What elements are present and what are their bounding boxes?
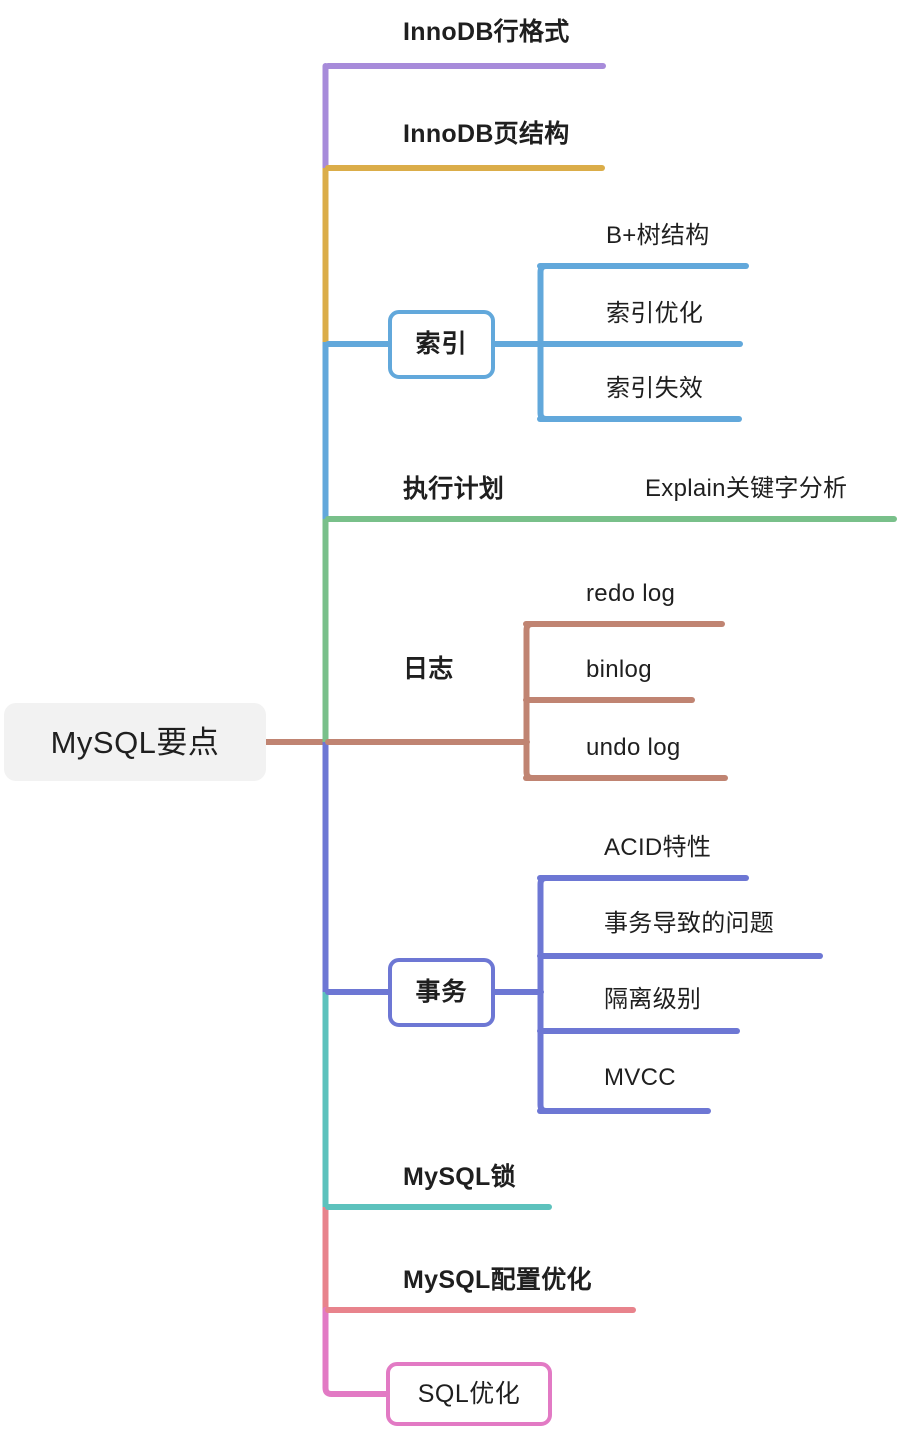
node-execution-plan[interactable]: 执行计划 [403,477,504,502]
node-logs[interactable]: 日志 [403,657,454,682]
root-node-label: MySQL要点 [51,727,220,758]
node-undo-log-label: undo log [586,734,681,761]
node-mysql-locks[interactable]: MySQL锁 [403,1165,516,1190]
node-undo-log[interactable]: undo log [586,736,681,760]
node-innodb-page-structure-label: InnoDB页结构 [403,120,570,148]
node-isolation-levels[interactable]: 隔离级别 [604,988,701,1012]
node-binlog-label: binlog [586,656,652,683]
node-index-optimization[interactable]: 索引优化 [606,302,703,326]
subspine-logs-elbow-bottom [527,766,533,778]
subspine-logs-elbow-top [527,624,533,636]
node-binlog[interactable]: binlog [586,658,652,682]
node-redo-log[interactable]: redo log [586,582,675,606]
subspine-transaction-elbow-top [541,878,547,890]
node-index-invalidation-label: 索引失效 [606,375,703,402]
root-node[interactable]: MySQL要点 [4,703,266,781]
node-redo-log-label: redo log [586,580,675,607]
node-transaction-label: 事务 [415,980,467,1005]
trunk-segment-pink [326,1310,391,1394]
node-explain-keyword-analysis-label: Explain关键字分析 [645,475,847,502]
node-mvcc[interactable]: MVCC [604,1066,676,1090]
subspine-transaction-elbow-bottom [541,1099,547,1111]
node-bplus-tree-structure-label: B+树结构 [606,222,710,249]
node-sql-optimization-label: SQL优化 [418,1382,521,1407]
mindmap-canvas: MySQL要点 InnoDB行格式 InnoDB页结构 执行计划 日志 MySQ… [0,0,898,1436]
node-isolation-levels-label: 隔离级别 [604,986,701,1013]
node-mysql-locks-label: MySQL锁 [403,1163,516,1191]
node-logs-label: 日志 [403,655,454,683]
node-innodb-row-format[interactable]: InnoDB行格式 [403,20,570,45]
node-mysql-config-optimization-label: MySQL配置优化 [403,1266,592,1294]
node-mvcc-label: MVCC [604,1064,676,1091]
subspine-index-elbow-top [541,266,547,278]
node-transaction-problems[interactable]: 事务导致的问题 [604,912,774,936]
node-index-invalidation[interactable]: 索引失效 [606,377,703,401]
node-transaction[interactable]: 事务 [388,958,495,1027]
node-acid-properties-label: ACID特性 [604,834,711,861]
node-mysql-config-optimization[interactable]: MySQL配置优化 [403,1268,592,1293]
node-execution-plan-label: 执行计划 [403,475,504,503]
node-index[interactable]: 索引 [388,310,495,379]
node-acid-properties[interactable]: ACID特性 [604,836,711,860]
node-sql-optimization[interactable]: SQL优化 [386,1362,552,1426]
node-explain-keyword-analysis[interactable]: Explain关键字分析 [645,477,847,501]
node-innodb-page-structure[interactable]: InnoDB页结构 [403,122,570,147]
subspine-index-elbow-bottom [541,407,547,419]
node-innodb-row-format-label: InnoDB行格式 [403,18,570,46]
node-index-optimization-label: 索引优化 [606,300,703,327]
node-transaction-problems-label: 事务导致的问题 [604,910,774,937]
node-index-label: 索引 [415,332,467,357]
node-bplus-tree-structure[interactable]: B+树结构 [606,224,710,248]
